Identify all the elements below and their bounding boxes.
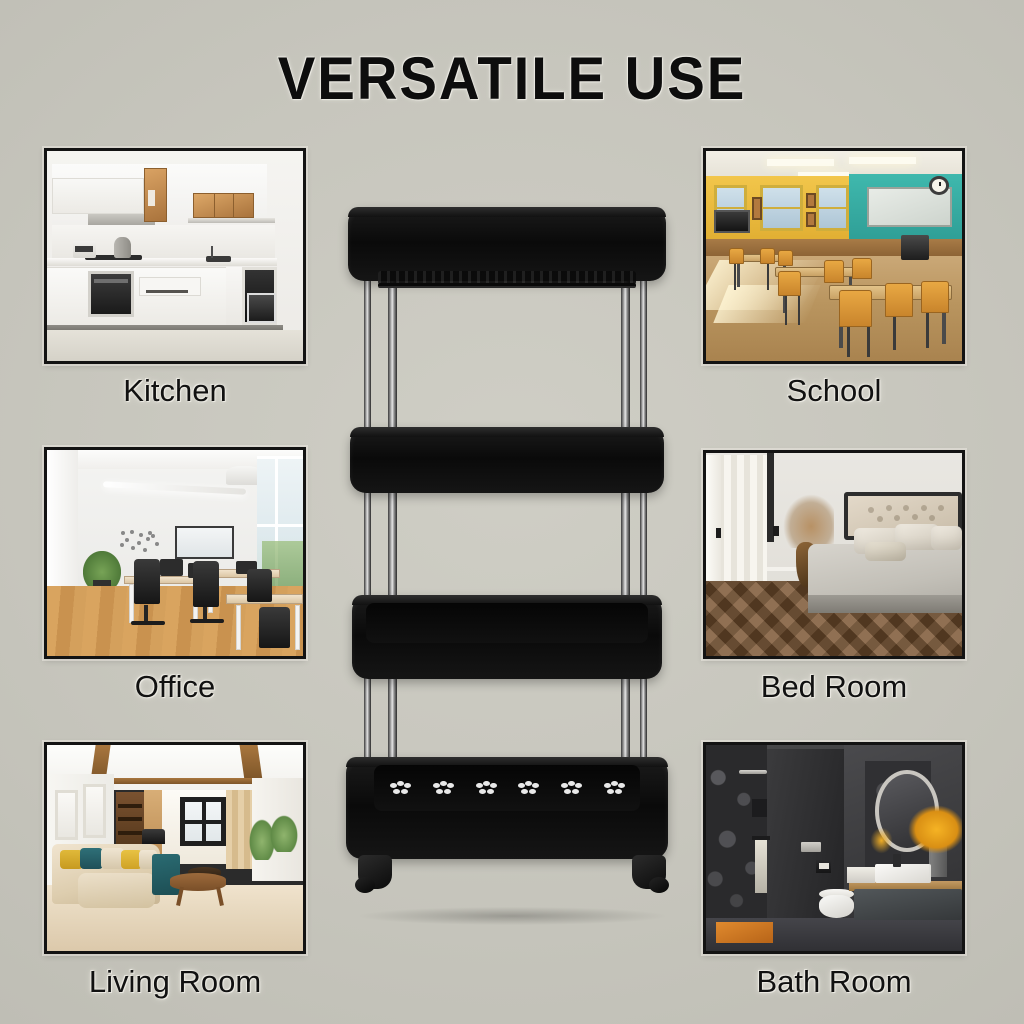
product-rolling-cart	[340, 195, 685, 915]
photo-bathroom	[706, 745, 962, 951]
photo-frame-kitchen	[44, 148, 306, 364]
drain-hole-cluster	[518, 781, 540, 803]
card-caption-livingroom: Living Room	[44, 964, 306, 1000]
photo-office	[47, 450, 303, 656]
drain-hole-cluster	[476, 781, 498, 803]
drain-hole-cluster	[561, 781, 583, 803]
photo-bedroom	[706, 453, 962, 656]
card-caption-bathroom: Bath Room	[703, 964, 965, 1000]
photo-frame-bathroom	[703, 742, 965, 954]
cart-ground-shadow	[360, 907, 665, 925]
photo-frame-livingroom	[44, 742, 306, 954]
photo-frame-school	[703, 148, 965, 364]
cart-grate-edge-tier-1	[378, 283, 636, 288]
card-caption-office: Office	[44, 669, 306, 705]
cart-drain-holes	[390, 779, 626, 805]
photo-frame-bedroom	[703, 450, 965, 659]
drain-hole-cluster	[433, 781, 455, 803]
photo-kitchen	[47, 151, 303, 361]
photo-livingroom	[47, 745, 303, 951]
cart-basket-tier-2	[350, 427, 664, 493]
cart-basket-tier-4	[346, 757, 668, 859]
cart-caster-right	[632, 855, 666, 889]
card-caption-school: School	[703, 373, 965, 409]
drain-hole-cluster	[390, 781, 412, 803]
cart-basket-tier-3	[352, 595, 662, 679]
card-office: Office	[44, 447, 306, 715]
card-school: School	[703, 148, 965, 416]
cart-caster-left	[358, 855, 392, 889]
poster-canvas: VERSATILE USE	[0, 0, 1024, 1024]
card-bedroom: Bed Room	[703, 450, 965, 718]
card-bathroom: Bath Room	[703, 742, 965, 1010]
card-kitchen: Kitchen	[44, 148, 306, 416]
photo-frame-office	[44, 447, 306, 659]
page-title: VERSATILE USE	[31, 44, 994, 113]
card-caption-bedroom: Bed Room	[703, 669, 965, 705]
card-caption-kitchen: Kitchen	[44, 373, 306, 409]
drain-hole-cluster	[604, 781, 626, 803]
card-livingroom: Living Room	[44, 742, 306, 1010]
cart-basket-tier-1	[348, 207, 666, 281]
photo-school	[706, 151, 962, 361]
